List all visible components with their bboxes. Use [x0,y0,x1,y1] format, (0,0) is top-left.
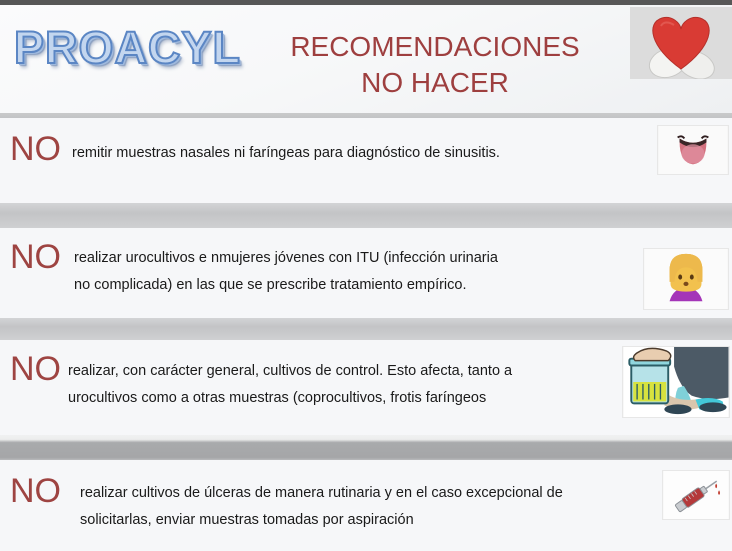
recommendation-text: realizar cultivos de úlceras de manera r… [80,480,650,534]
page-title-line-2: NO HACER [245,65,625,101]
recommendation-row: NO realizar urocultivos e nmujeres jóven… [0,228,732,318]
recommendation-line: realizar cultivos de úlceras de manera r… [80,480,650,507]
recommendation-row: NO remitir muestras nasales ni faríngeas… [0,118,732,203]
recommendation-row: NO realizar cultivos de úlceras de maner… [0,460,732,551]
page-title-line-1: RECOMENDACIONES [245,29,625,65]
recommendation-row: NO realizar, con carácter general, culti… [0,340,732,435]
recommendation-line: no complicada) en las que se prescribe t… [74,272,634,299]
row-separator [0,318,732,340]
no-label: NO [10,350,61,389]
no-label: NO [10,472,61,511]
recommendation-line: solicitarlas, enviar muestras tomadas po… [80,507,650,534]
woman-emoji-image [643,248,729,310]
page-title: RECOMENDACIONES NO HACER [245,29,625,101]
row-separator [0,203,732,228]
slide-header: PROACYL RECOMENDACIONES NO HACER [0,5,732,115]
proacyl-logo: PROACYL [14,19,244,77]
syringe-image [662,470,730,520]
recommendation-line: realizar urocultivos e nmujeres jóvenes … [74,245,634,272]
urine-sample-cup-image [622,346,730,418]
recommendation-text: realizar, con carácter general, cultivos… [68,358,628,412]
recommendation-text: realizar urocultivos e nmujeres jóvenes … [74,245,634,299]
heart-with-pills-image [630,7,732,79]
recommendation-line: remitir muestras nasales ni faríngeas pa… [72,140,632,167]
recommendation-line: realizar, con carácter general, cultivos… [68,358,628,385]
no-label: NO [10,238,61,277]
recommendation-text: remitir muestras nasales ni faríngeas pa… [72,140,632,167]
no-label: NO [10,130,61,169]
row-separator [0,435,732,460]
presentation-slide: PROACYL RECOMENDACIONES NO HACER NO remi… [0,0,732,551]
recommendation-line: urocultivos como a otras muestras (copro… [68,385,628,412]
mouth-tongue-image [657,125,729,175]
